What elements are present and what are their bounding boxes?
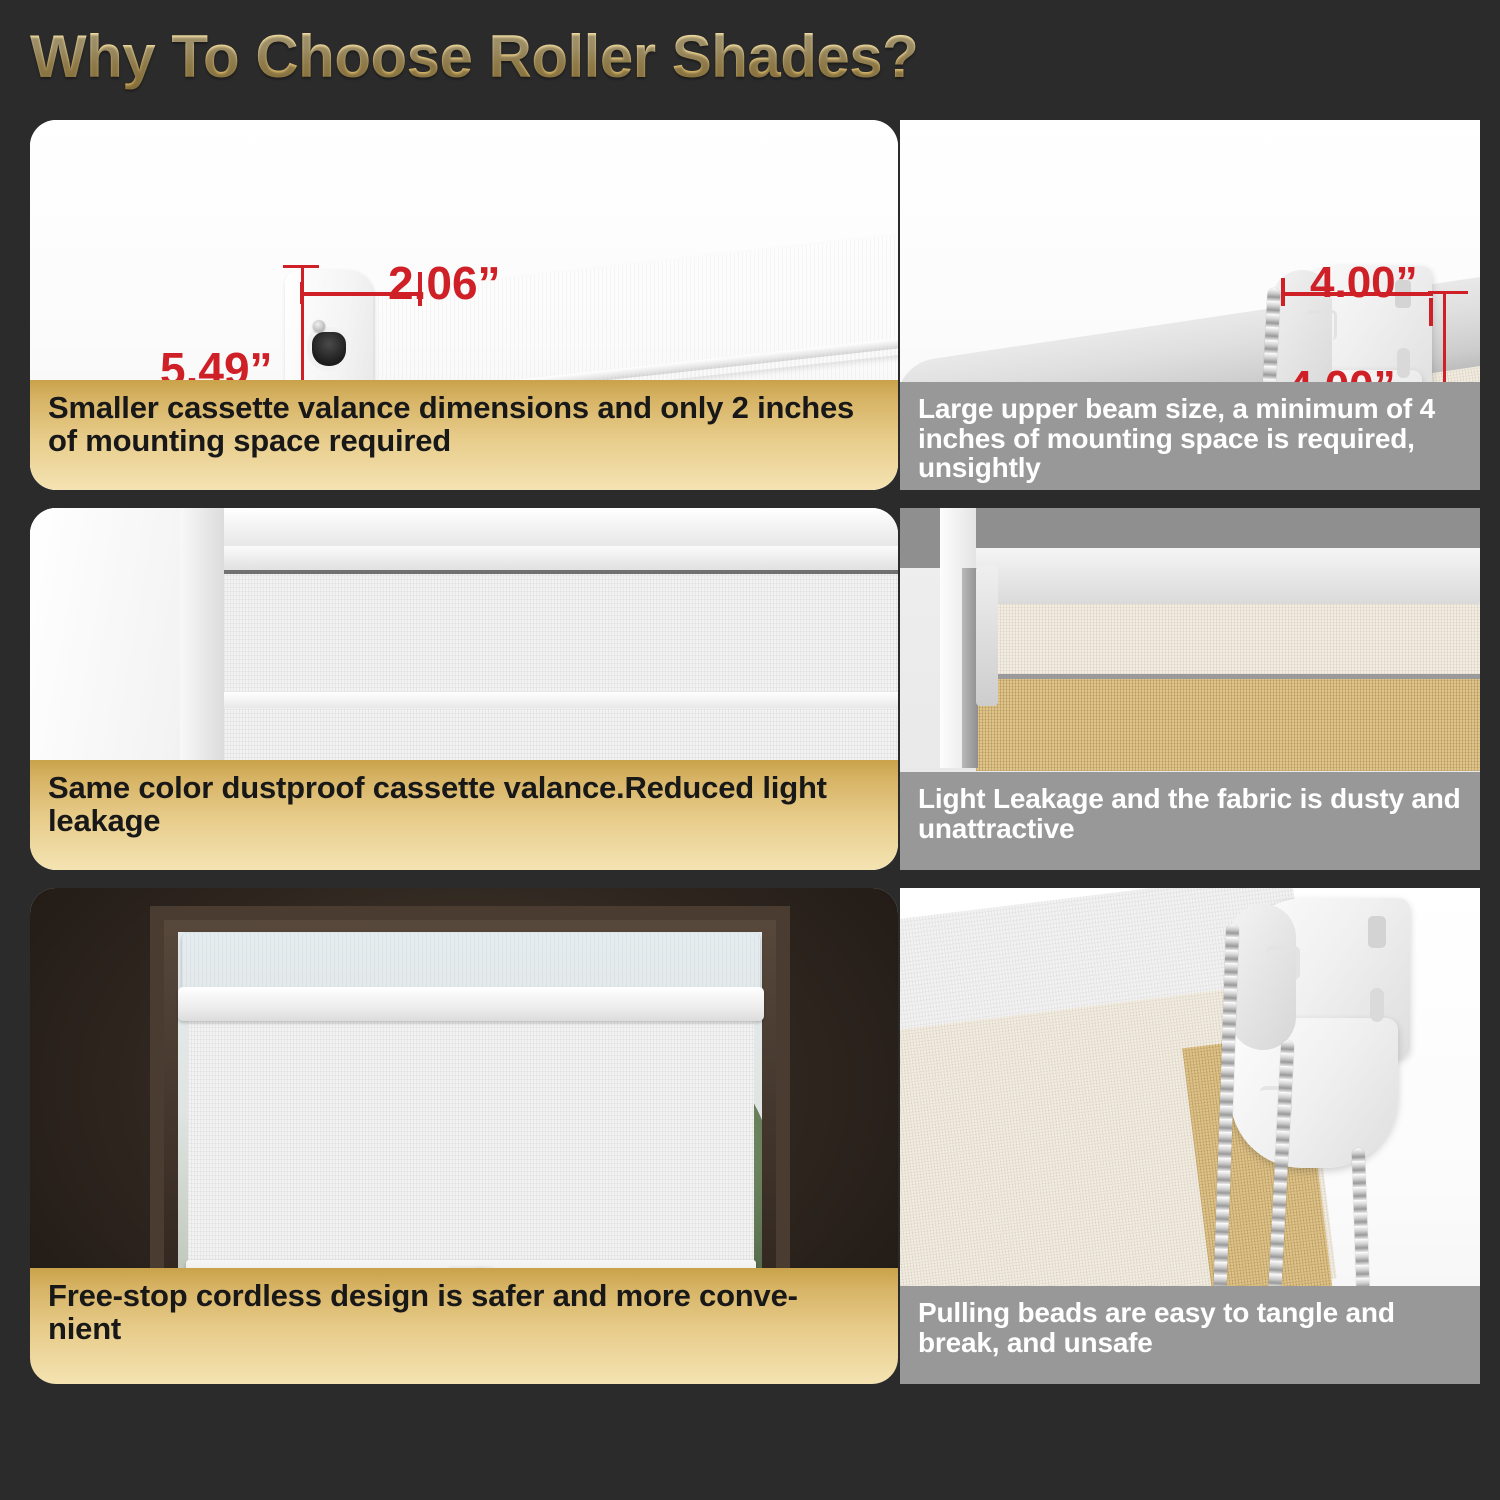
panel-3-caption-text: Same color dustproof cassette valance.Re… [48, 770, 827, 838]
panel-1-caption: Smaller cassette valance dimensions and … [30, 380, 898, 490]
cassette-fabric-front [224, 574, 898, 692]
end-cap-pin-icon [313, 320, 325, 332]
panel-5-cordless-window: Free-stop cordless design is safer and m… [30, 888, 898, 1384]
panel-5-caption: Free-stop cordless design is safer and m… [30, 1268, 898, 1384]
panel-6-caption-text: Pulling beads are easy to tangle and bre… [918, 1297, 1395, 1358]
bracket-slot-icon [1368, 916, 1386, 948]
panel-4-caption-text: Light Leakage and the fabric is dusty an… [918, 783, 1461, 844]
panel-5-caption-line-2: nient [48, 1311, 121, 1346]
panel-2-caption: Large upper beam size, a minimum of 4 in… [900, 382, 1480, 490]
panel-1-cassette-dimensions: 2.06” 5.49” Smaller cassette valance dim… [30, 120, 898, 490]
panel-6-bead-chain: Pulling beads are easy to tangle and bre… [900, 888, 1480, 1384]
panel-1-caption-text: Smaller cassette valance dimensions and … [48, 390, 854, 458]
bracket-arrow-emboss-icon [1266, 946, 1300, 980]
panel-4-caption: Light Leakage and the fabric is dusty an… [900, 772, 1480, 870]
page-title: Why To Choose Roller Shades? [30, 22, 918, 91]
bracket-height-tick-top [1428, 291, 1468, 294]
panel-3-smaller-gap: smaller gap Same color dustproof cassett… [30, 508, 898, 870]
panel-5-caption-line-1: Free-stop cordless design is safer and m… [48, 1278, 798, 1313]
window-frame-left-inner [180, 508, 224, 770]
window-frame-left-outer [30, 508, 180, 770]
bracket-keyhole-icon [1370, 988, 1384, 1022]
bracket-arrow-emboss-icon [1307, 310, 1337, 340]
panel-4-large-gap: Large gap Light Leakage and the fabric i… [900, 508, 1480, 870]
infographic-page: Why To Choose Roller Shades? 2.06” 5.49” [0, 0, 1500, 1500]
panel-2-large-beam: 4.00” 4.00” Large upper beam size, a min… [900, 120, 1480, 490]
panel-2-caption-text: Large upper beam size, a minimum of 4 in… [918, 393, 1435, 483]
competitor-roller-tube [976, 548, 1480, 608]
roller-end-pin [976, 566, 998, 706]
cassette-bottom-lip [224, 692, 898, 708]
bracket-keyhole-icon [1397, 348, 1410, 378]
bracket-width-dimension-label: 4.00” [1310, 258, 1418, 308]
cassette-top-face [224, 546, 898, 572]
bracket-width-tick-left [1281, 278, 1285, 306]
shade-cassette-lip [178, 987, 764, 1021]
shade-cassette-valance [182, 933, 760, 989]
end-cap-slot-icon [312, 332, 346, 366]
competitor-fabric-tan-dusty [976, 679, 1480, 771]
bracket-width-tick-right [1429, 298, 1433, 326]
panel-6-caption: Pulling beads are easy to tangle and bre… [900, 1286, 1480, 1384]
competitor-fabric-cream [976, 604, 1480, 674]
shade-fabric [188, 1018, 754, 1264]
width-dimension-label: 2.06” [388, 256, 501, 310]
panel-3-caption: Same color dustproof cassette valance.Re… [30, 760, 898, 870]
height-dimension-tick-top [283, 265, 319, 268]
